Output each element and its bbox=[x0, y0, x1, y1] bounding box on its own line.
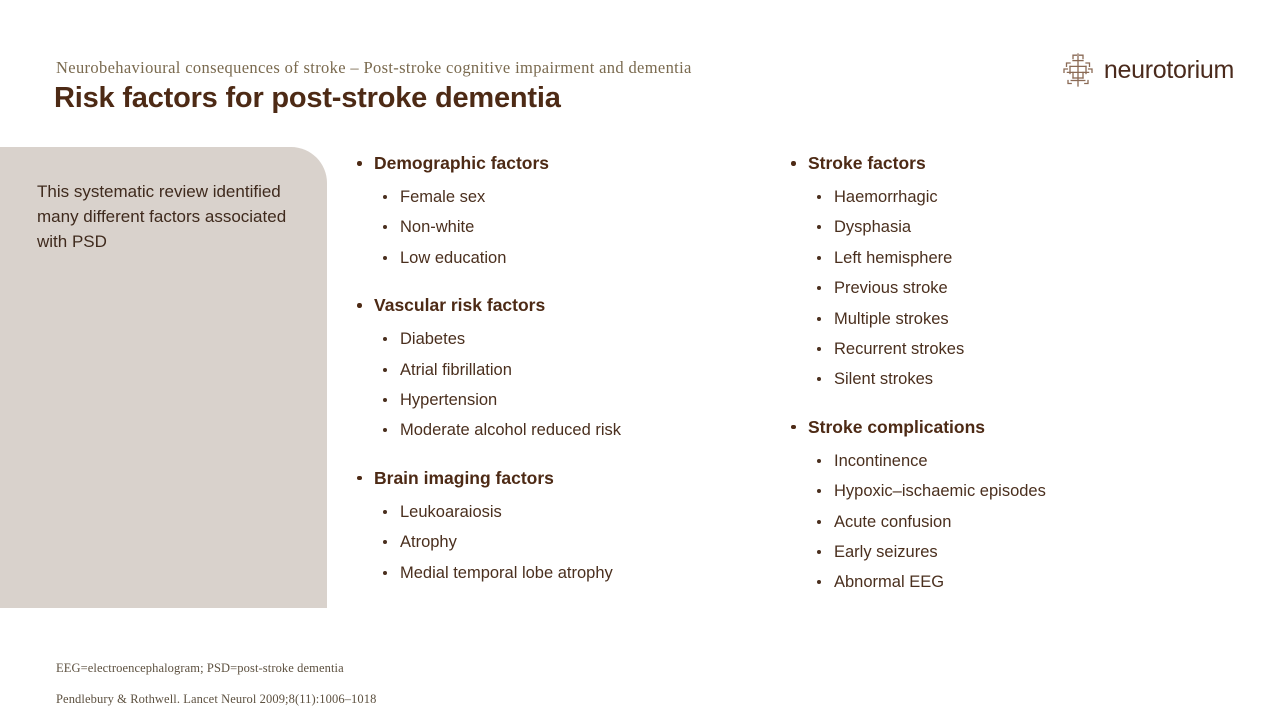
list-item: Previous stroke bbox=[786, 273, 1206, 303]
group-heading: Stroke complications bbox=[786, 414, 1206, 440]
list-item: Incontinence bbox=[786, 446, 1206, 476]
list-item: Hypoxic–ischaemic episodes bbox=[786, 476, 1206, 506]
bullet-group-stroke-complications: Stroke complications Incontinence Hypoxi… bbox=[786, 414, 1206, 598]
footnote-citation: Pendlebury & Rothwell. Lancet Neurol 200… bbox=[56, 692, 376, 707]
list-item: Left hemisphere bbox=[786, 243, 1206, 273]
group-heading: Brain imaging factors bbox=[352, 465, 752, 491]
list-item: Atrial fibrillation bbox=[352, 355, 752, 385]
list-item: Multiple strokes bbox=[786, 304, 1206, 334]
footnote-abbreviations: EEG=electroencephalogram; PSD=post-strok… bbox=[56, 661, 344, 676]
list-item: Abnormal EEG bbox=[786, 567, 1206, 597]
brand-logo: neurotorium bbox=[1061, 52, 1234, 88]
page-title: Risk factors for post-stroke dementia bbox=[54, 82, 561, 115]
callout-panel: This systematic review identified many d… bbox=[0, 147, 327, 608]
group-heading: Vascular risk factors bbox=[352, 292, 752, 318]
brand-wordmark: neurotorium bbox=[1104, 58, 1234, 83]
bullet-group-demographic-factors: Demographic factors Female sex Non-white… bbox=[352, 150, 752, 273]
slide-canvas: Neurobehavioural consequences of stroke … bbox=[0, 0, 1280, 720]
list-item: Haemorrhagic bbox=[786, 182, 1206, 212]
list-item: Recurrent strokes bbox=[786, 334, 1206, 364]
neurotorium-tree-mark-icon bbox=[1061, 52, 1095, 88]
list-item: Leukoaraiosis bbox=[352, 497, 752, 527]
bullet-group-stroke-factors: Stroke factors Haemorrhagic Dysphasia Le… bbox=[786, 150, 1206, 395]
slide-kicker: Neurobehavioural consequences of stroke … bbox=[56, 58, 692, 78]
list-item: Moderate alcohol reduced risk bbox=[352, 415, 752, 445]
bullet-column-right: Stroke factors Haemorrhagic Dysphasia Le… bbox=[786, 150, 1206, 617]
list-item: Acute confusion bbox=[786, 507, 1206, 537]
group-heading: Demographic factors bbox=[352, 150, 752, 176]
list-item: Atrophy bbox=[352, 527, 752, 557]
list-item: Hypertension bbox=[352, 385, 752, 415]
bullet-group-vascular-risk-factors: Vascular risk factors Diabetes Atrial fi… bbox=[352, 292, 752, 446]
bullet-group-brain-imaging-factors: Brain imaging factors Leukoaraiosis Atro… bbox=[352, 465, 752, 588]
list-item: Diabetes bbox=[352, 324, 752, 354]
list-item: Medial temporal lobe atrophy bbox=[352, 558, 752, 588]
callout-text: This systematic review identified many d… bbox=[37, 180, 287, 254]
list-item: Low education bbox=[352, 243, 752, 273]
list-item: Female sex bbox=[352, 182, 752, 212]
list-item: Non-white bbox=[352, 212, 752, 242]
list-item: Early seizures bbox=[786, 537, 1206, 567]
group-heading: Stroke factors bbox=[786, 150, 1206, 176]
list-item: Silent strokes bbox=[786, 364, 1206, 394]
bullet-column-middle: Demographic factors Female sex Non-white… bbox=[352, 150, 752, 607]
list-item: Dysphasia bbox=[786, 212, 1206, 242]
